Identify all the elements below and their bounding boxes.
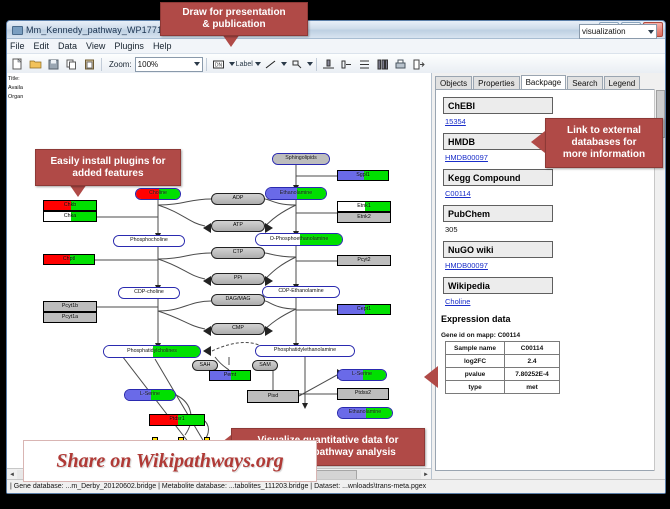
- metabolite-node[interactable]: Choline: [135, 188, 181, 200]
- callout-plugins: Easily install plugins for added feature…: [35, 149, 181, 186]
- section-pubchem-value: 305: [445, 225, 660, 234]
- callout-share: Share on Wikipathways.org: [23, 440, 317, 482]
- node-label: SAH: [200, 363, 211, 368]
- cofactor-node[interactable]: ADP: [211, 193, 265, 205]
- node-label: Pcyt2: [357, 258, 370, 263]
- node-label: CTP: [233, 250, 244, 255]
- gene-node[interactable]: Chka: [43, 211, 97, 222]
- row-value: C00114: [505, 342, 560, 355]
- chevron-down-icon: [255, 62, 261, 66]
- node-label: ATP: [233, 223, 243, 228]
- gene-node[interactable]: Etnk1: [337, 201, 391, 212]
- section-kegg-header: Kegg Compound: [443, 169, 553, 186]
- line-icon[interactable]: [262, 56, 279, 73]
- cofactor-node[interactable]: CMP: [211, 323, 265, 335]
- node-label: O-Phosphoethanolamine: [270, 237, 329, 242]
- table-row: pvalue 7.80252E-4: [446, 368, 560, 381]
- node-label: L-Serine: [352, 372, 372, 377]
- info-available-label: Availa: [8, 84, 34, 93]
- order-icon[interactable]: [356, 56, 373, 73]
- menu-view[interactable]: View: [86, 41, 105, 51]
- row-value: 2.4: [505, 355, 560, 368]
- metabolite-node[interactable]: Phosphatidylcholines: [103, 345, 201, 358]
- visualization-combobox[interactable]: visualization: [579, 24, 657, 39]
- row-value: 7.80252E-4: [505, 368, 560, 381]
- node-label: Sgpl1: [356, 173, 370, 178]
- row-key: Sample name: [446, 342, 505, 355]
- gene-id-line: Gene id on mapp: C00114: [441, 332, 660, 339]
- chevron-down-icon: [194, 62, 200, 66]
- menu-data[interactable]: Data: [58, 41, 77, 51]
- panel-tabs: Objects Properties Backpage Search Legen…: [435, 75, 661, 90]
- label-tool-text: Label: [236, 61, 253, 68]
- cofactor-node[interactable]: CTP: [211, 247, 265, 259]
- expression-data-heading: Expression data: [441, 314, 660, 324]
- tab-properties[interactable]: Properties: [473, 76, 519, 89]
- node-label: Chptl: [63, 257, 75, 262]
- node-label: Ptdss2: [355, 391, 371, 396]
- zoom-value: 100%: [138, 60, 158, 69]
- callout-links-text: Link to external databases for more info…: [563, 125, 645, 161]
- print-icon[interactable]: [392, 56, 409, 73]
- metabolite-node[interactable]: O-Phosphoethanolamine: [255, 233, 343, 246]
- align-icon[interactable]: [320, 56, 337, 73]
- section-nugo-link[interactable]: HMDB00097: [445, 261, 660, 270]
- node-label: Choline: [149, 191, 167, 196]
- row-value: met: [505, 381, 560, 394]
- metabolite-node[interactable]: L-Serine: [124, 389, 176, 401]
- label-dropdown[interactable]: Label: [236, 61, 261, 68]
- pathvisio-window: Mm_Kennedy_pathway_WP1771_45176.gpml ─ ❐…: [6, 20, 666, 494]
- node-label: Ptdsr1: [169, 417, 184, 422]
- gene-node[interactable]: Sgpl1: [337, 170, 389, 181]
- open-icon[interactable]: [27, 56, 44, 73]
- menubar: File Edit Data View Plugins Help: [7, 39, 665, 54]
- node-label: Etnk1: [357, 204, 371, 209]
- anchor-icon[interactable]: [288, 56, 305, 73]
- expression-table: Sample name C00114 log2FC 2.4 pvalue 7.8…: [445, 341, 560, 394]
- toolbar-separator: [316, 58, 317, 71]
- menu-file[interactable]: File: [10, 41, 25, 51]
- zoom-label: Zoom:: [109, 60, 132, 69]
- metabolite-node[interactable]: L-Serine: [337, 369, 387, 381]
- row-key: log2FC: [446, 355, 505, 368]
- info-title-label: Title:: [8, 75, 34, 84]
- callout-links: Link to external databases for more info…: [545, 118, 663, 168]
- section-nugo-header: NuGO wiki: [443, 241, 553, 258]
- table-row: log2FC 2.4: [446, 355, 560, 368]
- node-label: Pcyt1b: [62, 304, 78, 309]
- group-icon[interactable]: [338, 56, 355, 73]
- gene-node[interactable]: Ptdsr1: [149, 414, 205, 426]
- callout-draw-text: Draw for presentation & publication: [182, 7, 285, 31]
- node-label: Phosphocholine: [130, 238, 168, 243]
- node-label: Pcyt1a: [62, 315, 78, 320]
- tab-objects[interactable]: Objects: [435, 76, 472, 89]
- tab-search[interactable]: Search: [567, 76, 602, 89]
- menu-edit[interactable]: Edit: [34, 41, 50, 51]
- app-icon: [11, 24, 22, 35]
- metabolite-node[interactable]: Sphingolipids: [272, 153, 330, 165]
- node-label: L-Serine: [140, 392, 160, 397]
- chevron-down-icon: [229, 62, 235, 66]
- gene-node[interactable]: Pcyt1b: [43, 301, 97, 312]
- gene-node[interactable]: Ptdss2: [337, 388, 389, 400]
- scroll-right-icon[interactable]: ►: [421, 470, 431, 479]
- svg-text:DN: DN: [215, 62, 223, 68]
- row-key: type: [446, 381, 505, 394]
- chevron-down-icon: [307, 62, 313, 66]
- tab-legend[interactable]: Legend: [604, 76, 641, 89]
- section-pubchem-header: PubChem: [443, 205, 553, 222]
- chevron-down-icon: [648, 30, 654, 34]
- statusbar-text: | Gene database: ...m_Derby_20120602.bri…: [10, 483, 426, 490]
- table-row: Sample name C00114: [446, 342, 560, 355]
- node-label: CDP-Ethanolamine: [278, 289, 323, 294]
- node-label: Chka: [64, 214, 76, 219]
- scroll-left-icon[interactable]: ◄: [7, 470, 17, 479]
- section-chebi-header: ChEBI: [443, 97, 553, 114]
- node-label: DAG/MAG: [225, 297, 250, 302]
- node-label: Phosphatidylethanolamine: [274, 348, 336, 353]
- gene-node[interactable]: Pemt: [209, 370, 251, 381]
- anchor-dropdown[interactable]: [288, 56, 313, 73]
- node-label: Ethanolamine: [349, 410, 381, 415]
- toolbar: Zoom: 100% DN Label: [7, 54, 665, 75]
- callout-share-text: Share on Wikipathways.org: [56, 450, 283, 473]
- gene-node[interactable]: Cept1: [337, 304, 391, 315]
- node-label: ADP: [233, 196, 244, 201]
- menu-plugins[interactable]: Plugins: [114, 41, 144, 51]
- section-wikipedia-header: Wikipedia: [443, 277, 553, 294]
- paste-icon[interactable]: [81, 56, 98, 73]
- toolbar-separator: [101, 58, 102, 71]
- node-label: Pemt: [224, 373, 236, 378]
- toolbar-separator: [206, 58, 207, 71]
- metabolite-node[interactable]: CDP-Ethanolamine: [262, 286, 340, 298]
- callout-links-arrow: [531, 131, 545, 153]
- stack-icon[interactable]: [374, 56, 391, 73]
- node-label: Chkb: [64, 203, 76, 208]
- cofactor-node[interactable]: SAM: [252, 360, 278, 371]
- callout-expression-arrow: [424, 366, 438, 388]
- gene-node[interactable]: Pcyt1a: [43, 312, 97, 323]
- save-icon[interactable]: [45, 56, 62, 73]
- node-label: CDP-choline: [134, 290, 164, 295]
- callout-draw: Draw for presentation & publication: [160, 2, 308, 36]
- gene-node[interactable]: Chptl: [43, 254, 95, 265]
- cofactor-node[interactable]: PPi: [211, 273, 265, 285]
- gene-node[interactable]: Pisd: [247, 390, 299, 403]
- metabolite-node[interactable]: Ethanolamine: [265, 187, 327, 200]
- metabolite-node[interactable]: Phosphocholine: [113, 235, 185, 247]
- chevron-down-icon: [281, 62, 287, 66]
- tab-backpage[interactable]: Backpage: [521, 75, 567, 89]
- node-label: CMP: [232, 326, 244, 331]
- metabolite-node[interactable]: CDP-choline: [118, 287, 180, 299]
- node-label: Sphingolipids: [285, 156, 317, 161]
- gene-node[interactable]: Pcyt2: [337, 255, 391, 266]
- line-dropdown[interactable]: [262, 56, 287, 73]
- metabolite-node[interactable]: Ethanolamine: [337, 407, 393, 419]
- row-key: pvalue: [446, 368, 505, 381]
- node-label: Phosphatidylcholines: [127, 349, 177, 354]
- visualization-value: visualization: [582, 27, 626, 36]
- cofactor-node[interactable]: ATP: [211, 220, 265, 232]
- metabolite-node[interactable]: Phosphatidylethanolamine: [255, 345, 355, 357]
- datanode-icon[interactable]: DN: [210, 56, 227, 73]
- pathway-canvas[interactable]: Title: Availa Organ: [7, 73, 432, 493]
- node-label: Cept1: [357, 307, 371, 312]
- pathway-info-column: Title: Availa Organ: [8, 75, 34, 102]
- node-label: SAM: [259, 363, 270, 368]
- window-titlebar: Mm_Kennedy_pathway_WP1771_45176.gpml ─ ❐…: [7, 21, 665, 39]
- export-icon[interactable]: [410, 56, 427, 73]
- section-wikipedia-link[interactable]: Choline: [445, 297, 660, 306]
- info-organism-label: Organ: [8, 93, 34, 102]
- new-icon[interactable]: [9, 56, 26, 73]
- node-label: Pisd: [268, 394, 278, 399]
- menu-help[interactable]: Help: [153, 41, 172, 51]
- screenshot-root: Mm_Kennedy_pathway_WP1771_45176.gpml ─ ❐…: [0, 0, 670, 509]
- node-label: Ethanolamine: [280, 191, 312, 196]
- cofactor-node[interactable]: DAG/MAG: [211, 294, 265, 306]
- callout-plugins-text: Easily install plugins for added feature…: [50, 156, 165, 180]
- datanode-dropdown[interactable]: DN: [210, 56, 235, 73]
- zoom-combobox[interactable]: 100%: [135, 57, 203, 72]
- node-label: PPi: [234, 276, 242, 281]
- gene-node[interactable]: Etnk2: [337, 212, 391, 223]
- table-row: type met: [446, 381, 560, 394]
- copy-icon[interactable]: [63, 56, 80, 73]
- section-kegg-link[interactable]: C00114: [445, 189, 660, 198]
- node-label: Etnk2: [357, 215, 371, 220]
- gene-node[interactable]: Chkb: [43, 200, 97, 211]
